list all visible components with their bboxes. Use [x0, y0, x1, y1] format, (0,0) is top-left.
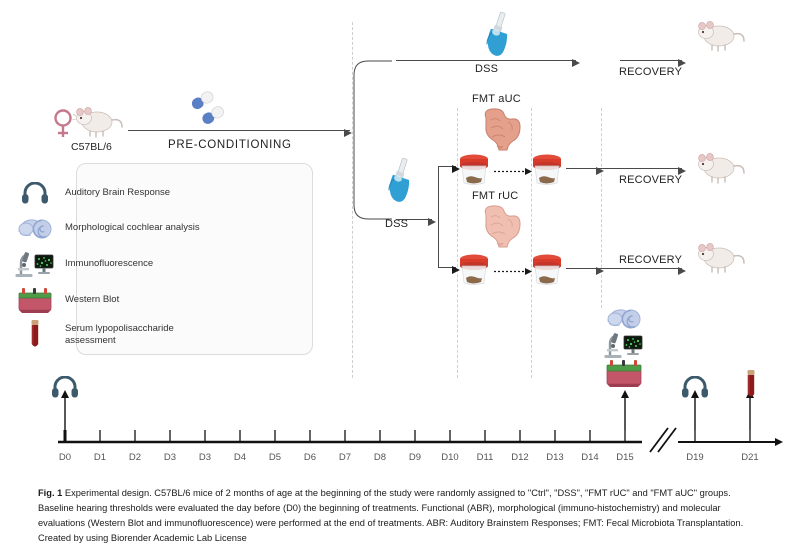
stool-jar-icon-ruc-post — [530, 252, 564, 286]
tick-label: D1 — [86, 452, 114, 463]
tick-label: D5 — [261, 452, 289, 463]
stool-jar-icon-ruc-pre — [457, 252, 491, 286]
legend-label-immunofluorescence: Immunofluorescence — [65, 258, 153, 270]
recovery-3-label: RECOVERY — [619, 254, 682, 266]
fmt-ruc-out-arrowhead — [596, 263, 606, 273]
preconditioning-line — [128, 130, 350, 131]
timeline-marker-d15-cochlea — [606, 305, 642, 331]
tick-label: D2 — [121, 452, 149, 463]
tick-label: D3 — [191, 452, 219, 463]
legend-item-western-blot: Western Blot — [14, 285, 229, 315]
glove-syringe-icon-lower — [382, 158, 416, 206]
recovery-2-label: RECOVERY — [619, 174, 682, 186]
tick-label: D9 — [401, 452, 429, 463]
fmt-auc-out-line — [566, 168, 622, 169]
recovery-2-arrowhead — [678, 163, 688, 173]
timeline-marker-d21-blood-tube — [743, 370, 759, 400]
dss-lower-line — [396, 219, 432, 220]
experimental-design-figure: C57BL/6 PRE-CONDITIONING — [0, 0, 802, 478]
glove-syringe-icon-top — [480, 12, 514, 60]
western-blot-icon — [14, 285, 56, 315]
tick-label: D4 — [226, 452, 254, 463]
legend-item-cochlea: Morphological cochlear analysis — [14, 213, 229, 243]
capsules-icon — [188, 88, 232, 124]
fmt-auc-out-arrowhead — [596, 163, 606, 173]
timeline-tick-labels: D0 D1 D2 D3 D3 D4 D5 D6 D7 D8 D9 D10 D11… — [30, 452, 790, 468]
microscope-icon — [14, 249, 56, 279]
legend-label-western-blot: Western Blot — [65, 294, 119, 306]
dss-lower-arrowhead — [428, 214, 438, 224]
guide-line-4 — [601, 108, 602, 308]
recovery-3-line — [620, 268, 682, 269]
guide-line-2 — [457, 108, 458, 378]
tick-label: D13 — [541, 452, 569, 463]
recovery-1-label: RECOVERY — [619, 66, 682, 78]
blood-tube-icon — [14, 320, 56, 350]
tick-label: D14 — [576, 452, 604, 463]
figure-caption: Fig. 1 Experimental design. C57BL/6 mice… — [38, 486, 766, 546]
recovery-2-line — [620, 168, 682, 169]
figure-caption-area: Fig. 1 Experimental design. C57BL/6 mice… — [0, 478, 802, 556]
timeline-marker-d15-western-blot — [603, 358, 645, 388]
dss-top-arrowhead — [572, 55, 582, 65]
fmt-auc-label: FMT aUC — [472, 93, 521, 105]
timeline-marker-d19-headphones — [681, 376, 709, 398]
fmt-ruc-transfer-arrow — [494, 263, 534, 272]
timeline-marker-d15-microscope — [604, 331, 644, 359]
tick-label: D15 — [611, 452, 639, 463]
intestine-icon-ruc — [478, 203, 524, 249]
tick-label: D11 — [471, 452, 499, 463]
timeline-marker-d0-headphones — [51, 376, 79, 398]
recovery-1-line — [620, 60, 682, 61]
fmt-auc-transfer-arrow — [494, 163, 534, 172]
fmt-split-vertical — [438, 166, 439, 268]
female-venus-icon — [52, 108, 74, 140]
mouse-icon-outcome-3 — [694, 240, 746, 274]
tick-label: D19 — [681, 452, 709, 463]
dss-top-label: DSS — [475, 63, 498, 75]
mouse-icon-outcome-1 — [694, 18, 746, 52]
legend-item-abr: Auditory Brain Response — [14, 178, 229, 208]
intestine-icon-auc — [478, 106, 524, 152]
tick-label: D7 — [331, 452, 359, 463]
mouse-icon-outcome-2 — [694, 150, 746, 184]
mouse-icon-start — [72, 104, 124, 138]
legend-label-cochlea: Morphological cochlear analysis — [65, 222, 200, 234]
legend-label-abr: Auditory Brain Response — [65, 187, 170, 199]
tick-label: D0 — [51, 452, 79, 463]
fmt-ruc-label: FMT rUC — [472, 190, 518, 202]
stool-jar-icon-auc-post — [530, 152, 564, 186]
preconditioning-label: PRE-CONDITIONING — [168, 139, 292, 151]
legend-label-lps: Serum lypopolisaccharide assessment — [65, 323, 225, 347]
headphones-icon — [14, 178, 56, 208]
tick-label: D8 — [366, 452, 394, 463]
tick-label: D6 — [296, 452, 324, 463]
stool-jar-icon-auc-pre — [457, 152, 491, 186]
tick-label: D10 — [436, 452, 464, 463]
legend-item-immunofluorescence: Immunofluorescence — [14, 249, 229, 279]
tick-label: D12 — [506, 452, 534, 463]
guide-line-3 — [531, 108, 532, 378]
tick-label: D3 — [156, 452, 184, 463]
strain-label: C57BL/6 — [71, 141, 112, 153]
figure-caption-text: Experimental design. C57BL/6 mice of 2 m… — [38, 488, 743, 543]
cochlea-icon — [14, 213, 56, 243]
tick-label: D21 — [736, 452, 764, 463]
timeline-axis — [30, 360, 790, 460]
figure-number: Fig. 1 — [38, 488, 62, 498]
recovery-1-arrowhead — [678, 55, 688, 65]
fmt-ruc-out-line — [566, 268, 622, 269]
legend-item-lps: Serum lypopolisaccharide assessment — [14, 320, 229, 350]
dss-top-line — [396, 60, 576, 61]
